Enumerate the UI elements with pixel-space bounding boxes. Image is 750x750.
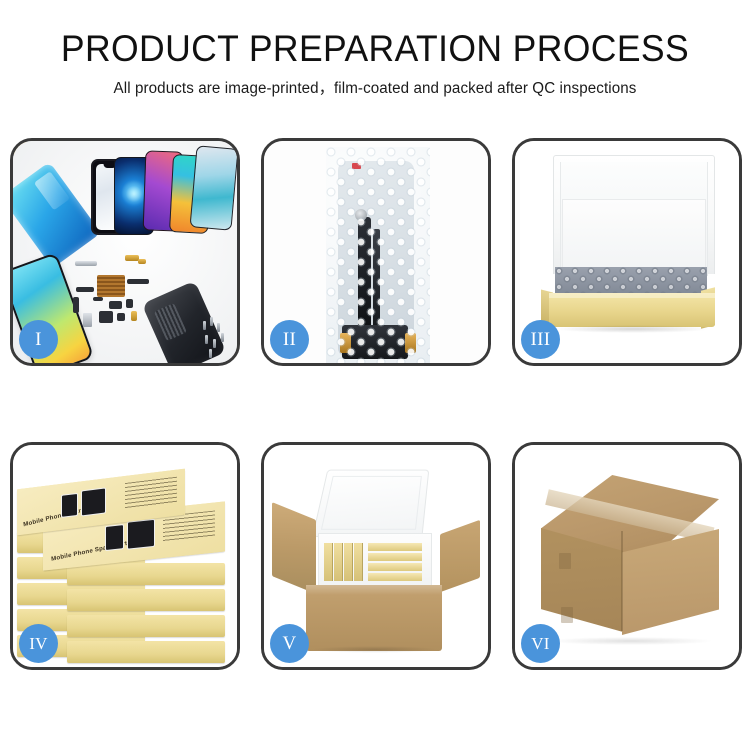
ic-chip-icon	[109, 301, 122, 309]
stacked-box	[67, 641, 225, 663]
inner-boxes-group-icon	[324, 541, 424, 583]
inner-box	[324, 543, 333, 581]
camera-module-icon	[126, 299, 133, 308]
carton-corner-seam	[621, 531, 623, 631]
gold-contact-icon	[138, 259, 146, 264]
step-numeral-4: IV	[29, 635, 48, 652]
vibrator-motor-icon	[117, 313, 125, 321]
screen-image-icon	[81, 487, 106, 516]
step-numeral-3: III	[531, 330, 551, 349]
gold-flex-icon	[125, 255, 139, 261]
step-panel-3[interactable]: III	[512, 138, 742, 366]
inner-box	[368, 573, 422, 581]
drop-shadow	[555, 325, 710, 333]
step-numeral-6: VI	[531, 635, 550, 652]
carton-tab-icon	[561, 607, 573, 623]
drop-shadow	[551, 637, 711, 645]
step-badge-4: IV	[19, 624, 58, 663]
antenna-flex-icon	[127, 279, 149, 284]
small-flex-icon	[73, 297, 79, 313]
screen-image-icon	[61, 493, 78, 518]
step-badge-1: I	[19, 320, 58, 359]
step-panel-4[interactable]: Mobile Phone Spare Parts Mobile Phone Sp…	[10, 442, 240, 670]
step-panel-2[interactable]: II	[261, 138, 491, 366]
teal-wave-phone-icon	[190, 145, 237, 230]
page-header: PRODUCT PREPARATION PROCESS All products…	[0, 28, 750, 99]
stacked-box	[67, 589, 225, 611]
chip-array-icon	[97, 275, 125, 297]
page-title: PRODUCT PREPARATION PROCESS	[15, 28, 735, 70]
foam-lid-icon	[312, 470, 429, 537]
step-panel-6[interactable]: VI	[512, 442, 742, 670]
carton-tab-icon	[559, 553, 571, 569]
stacked-box	[67, 615, 225, 637]
screws-group-icon	[201, 317, 231, 357]
inner-box	[354, 543, 363, 581]
step-badge-5: V	[270, 624, 309, 663]
process-steps-grid: I II	[10, 138, 742, 670]
inner-box	[368, 543, 422, 551]
screen-image-icon	[105, 524, 124, 551]
bubble-wrap-sleeve-icon	[326, 147, 430, 363]
step-panel-5[interactable]: V	[261, 442, 491, 670]
drop-shadow	[312, 646, 438, 653]
bubble-texture-icon	[326, 147, 430, 363]
speaker-module-icon	[99, 311, 113, 323]
carton-body-icon	[306, 585, 442, 651]
inner-box	[334, 543, 343, 581]
page-root: PRODUCT PREPARATION PROCESS All products…	[0, 0, 750, 750]
page-subtitle: All products are image-printed，film-coat…	[6, 79, 745, 99]
connector-strip-icon	[75, 261, 97, 266]
foam-back-panel-icon	[562, 199, 706, 273]
button-flex-icon	[93, 297, 103, 301]
inner-box	[344, 543, 353, 581]
ribbon-cable-icon	[76, 287, 94, 292]
inner-box	[368, 563, 422, 571]
sim-tray-icon	[83, 313, 92, 327]
stacked-box	[67, 563, 225, 585]
step-numeral-2: II	[283, 330, 296, 349]
step-numeral-5: V	[282, 634, 296, 653]
inner-box	[368, 553, 422, 561]
step-badge-6: VI	[521, 624, 560, 663]
step-numeral-1: I	[35, 330, 42, 349]
step-badge-2: II	[270, 320, 309, 359]
step-badge-3: III	[521, 320, 560, 359]
gold-pin-icon	[131, 311, 137, 321]
box-front-panel-icon	[549, 293, 715, 327]
screen-image-icon	[127, 519, 155, 550]
step-panel-1[interactable]: I	[10, 138, 240, 366]
